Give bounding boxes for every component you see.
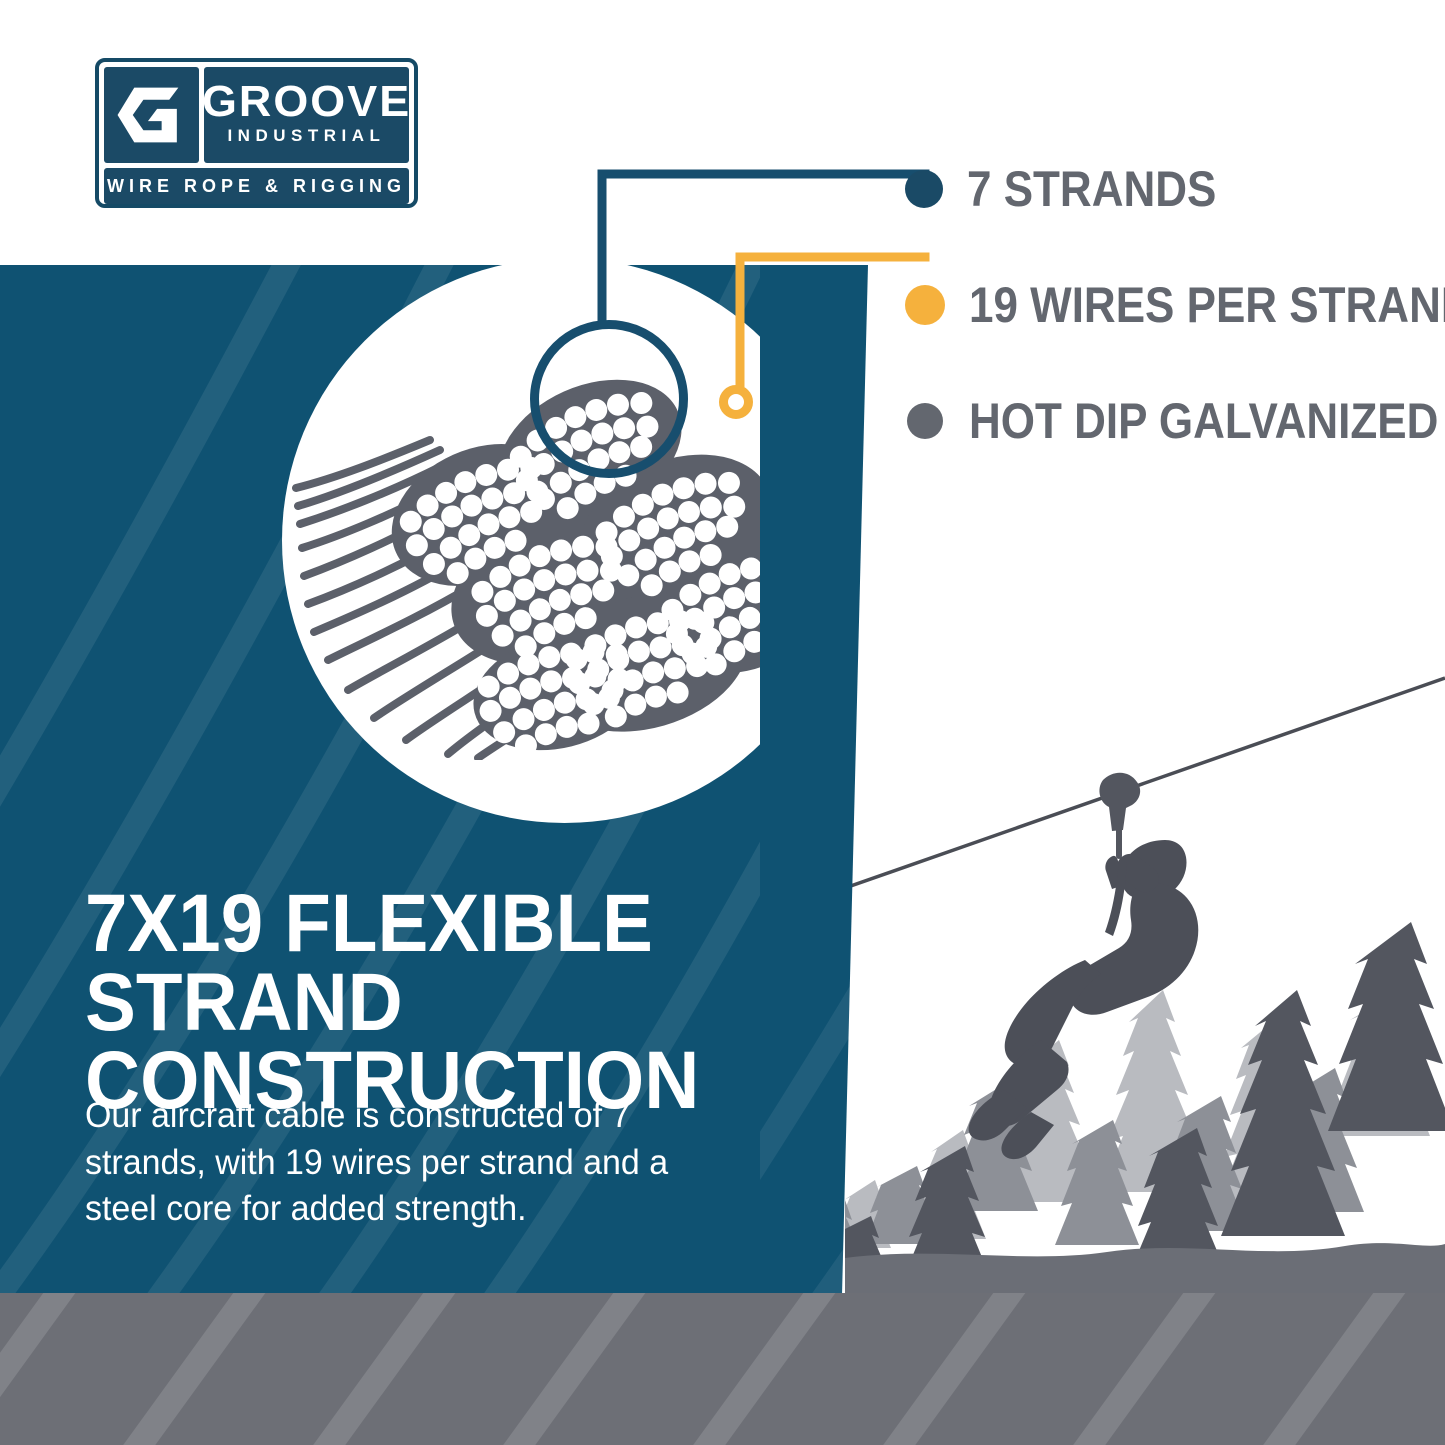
bottom-bar [0,1293,1445,1445]
callout-label-wires: 19 WIRES PER STRAND [969,276,1445,334]
callout-strands: 7 STRANDS [905,160,1250,218]
callout-galvanized: HOT DIP GALVANIZED [907,392,1445,450]
logo-name-primary: GROOVE [202,81,411,123]
logo-tagline: WIRE ROPE & RIGGING [107,176,406,197]
callout-dot-gray-icon [907,403,943,439]
brand-logo[interactable]: GROOVE INDUSTRIAL WIRE ROPE & RIGGING [95,58,418,208]
callout-label-strands: 7 STRANDS [967,160,1216,218]
headline-line-1: 7X19 FLEXIBLE [85,878,653,969]
callout-label-galvanized: HOT DIP GALVANIZED [969,392,1438,450]
galvanized-point-marker [719,385,753,419]
groove-g-icon [113,77,189,153]
panel-edge-waves [760,265,880,1295]
callout-dot-amber-icon [905,285,945,325]
callout-wires: 19 WIRES PER STRAND [905,276,1445,334]
zipline-scene [845,660,1445,1295]
logo-name-secondary: INDUSTRIAL [227,126,385,146]
infographic-canvas: GROOVE INDUSTRIAL WIRE ROPE & RIGGING 7 … [0,0,1445,1445]
logo-g-mark-icon [104,67,199,163]
body-paragraph: Our aircraft cable is constructed of 7 s… [85,1093,725,1233]
page-title: 7X19 FLEXIBLE STRAND CONSTRUCTION [85,885,792,1121]
bottom-bar-stripes [0,1293,1445,1445]
callout-dot-navy-icon [905,170,943,208]
